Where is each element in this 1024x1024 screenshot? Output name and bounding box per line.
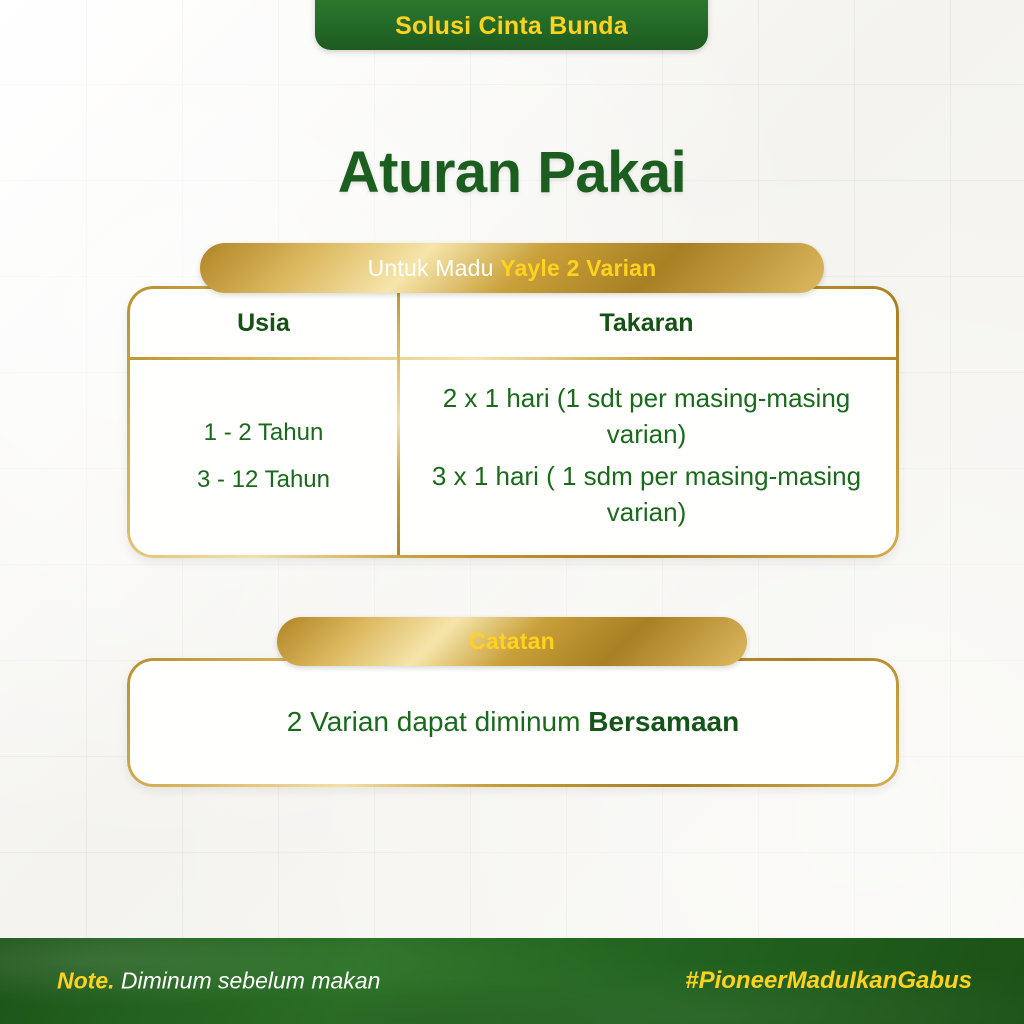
note-text: 2 Varian dapat diminum Bersamaan: [287, 704, 739, 740]
footer-note-label: Note.: [57, 968, 115, 994]
table-header-usia: Usia: [130, 289, 397, 357]
note-card-inner: 2 Varian dapat diminum Bersamaan: [130, 661, 896, 784]
note-card: 2 Varian dapat diminum Bersamaan: [127, 658, 899, 787]
top-banner-label: Solusi Cinta Bunda: [395, 12, 628, 41]
product-pill-prefix: Untuk Madu: [368, 255, 501, 281]
page-title: Aturan Pakai: [0, 139, 1024, 206]
catatan-pill: Catatan: [277, 617, 747, 666]
catatan-pill-label: Catatan: [469, 628, 555, 655]
table-body: 1 - 2 Tahun 3 - 12 Tahun 2 x 1 hari (1 s…: [130, 357, 896, 555]
table-column-takaran: 2 x 1 hari (1 sdt per masing-masing vari…: [397, 357, 896, 555]
note-text-prefix: 2 Varian dapat diminum: [287, 706, 588, 737]
footer-hashtag: #PioneerMaduIkanGabus: [685, 967, 972, 995]
footer-bar: Note. Diminum sebelum makan #PioneerMadu…: [0, 938, 1024, 1024]
top-banner: Solusi Cinta Bunda: [315, 0, 708, 50]
product-pill-highlight: Yayle 2 Varian: [500, 255, 656, 281]
product-pill: Untuk Madu Yayle 2 Varian: [200, 243, 824, 293]
table-column-usia: 1 - 2 Tahun 3 - 12 Tahun: [130, 357, 397, 555]
table-header-takaran: Takaran: [397, 289, 896, 357]
table-cell-dose-1: 2 x 1 hari (1 sdt per masing-masing vari…: [411, 378, 882, 456]
table-cell-age-1: 1 - 2 Tahun: [204, 409, 324, 456]
table-header-row: Usia Takaran: [130, 289, 896, 357]
note-text-highlight: Bersamaan: [588, 706, 739, 737]
poster-canvas: Solusi Cinta Bunda Aturan Pakai Untuk Ma…: [0, 0, 1024, 1024]
footer-note: Note. Diminum sebelum makan: [57, 968, 380, 995]
table-column-divider: [397, 289, 400, 555]
dosage-table: Usia Takaran 1 - 2 Tahun 3 - 12 Tahun 2 …: [130, 289, 896, 555]
product-pill-label: Untuk Madu Yayle 2 Varian: [368, 255, 657, 282]
dosage-table-card: Usia Takaran 1 - 2 Tahun 3 - 12 Tahun 2 …: [127, 286, 899, 558]
table-cell-age-2: 3 - 12 Tahun: [197, 456, 330, 503]
table-header-divider: [130, 357, 896, 360]
table-cell-dose-2: 3 x 1 hari ( 1 sdm per masing-masing var…: [411, 456, 882, 534]
footer-note-text: Diminum sebelum makan: [115, 968, 381, 994]
